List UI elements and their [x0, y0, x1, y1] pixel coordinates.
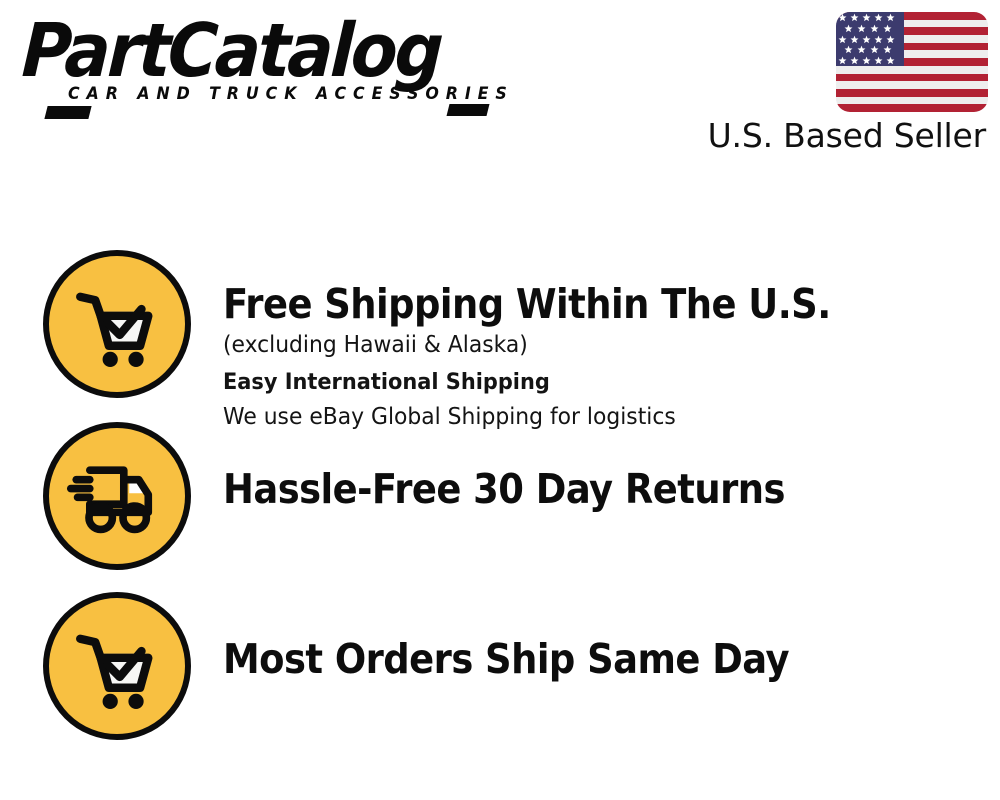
page-header: PartCatalog CAR AND TRUCK ACCESSORIES U.… — [0, 0, 1000, 175]
flag-star-icon — [886, 13, 895, 22]
flag-star-icon — [870, 24, 879, 33]
us-flag-icon — [836, 12, 988, 112]
flag-star-icon — [844, 24, 853, 33]
feature-heading: Hassle-Free 30 Day Returns — [223, 465, 907, 513]
feature-list: Free Shipping Within The U.S. (excluding… — [0, 175, 1000, 800]
flag-star-icon — [862, 13, 871, 22]
feature-row: Hassle-Free 30 Day Returns — [0, 422, 1000, 577]
flag-star-icon — [838, 35, 847, 44]
feature-row: Free Shipping Within The U.S. (excluding… — [0, 250, 1000, 425]
flag-stripe — [836, 104, 988, 112]
feature-row: Most Orders Ship Same Day — [0, 592, 1000, 747]
flag-star-icon — [838, 13, 847, 22]
flag-star-icon — [874, 35, 883, 44]
delivery-truck-icon — [43, 422, 191, 570]
flag-star-icon — [850, 56, 859, 65]
feature-text-block: Free Shipping Within The U.S. (excluding… — [223, 280, 983, 434]
flag-star-icon — [857, 24, 866, 33]
brand-wordmark: PartCatalog — [20, 14, 442, 88]
flag-star-icon — [862, 56, 871, 65]
feature-subline: (excluding Hawaii & Alaska) — [223, 328, 945, 362]
flag-stripe — [836, 97, 988, 105]
us-based-seller-label: U.S. Based Seller — [600, 116, 986, 156]
flag-star-icon — [844, 45, 853, 54]
feature-subline-bold: Easy International Shipping — [223, 366, 945, 400]
shopping-cart-check-icon — [43, 250, 191, 398]
brand-logo[interactable]: PartCatalog CAR AND TRUCK ACCESSORIES — [24, 20, 494, 115]
brand-tagline: CAR AND TRUCK ACCESSORIES — [68, 86, 514, 103]
flag-canton — [836, 12, 904, 66]
feature-heading: Free Shipping Within The U.S. — [223, 280, 907, 328]
feature-text-block: Most Orders Ship Same Day — [223, 635, 983, 683]
feature-text-block: Hassle-Free 30 Day Returns — [223, 465, 983, 513]
flag-stripe — [836, 81, 988, 89]
logo-swash-left — [44, 106, 91, 119]
shopping-cart-check-icon — [43, 592, 191, 740]
flag-star-icon — [870, 45, 879, 54]
flag-stripe — [836, 89, 988, 97]
flag-star-icon — [886, 56, 895, 65]
flag-star-icon — [883, 24, 892, 33]
feature-heading: Most Orders Ship Same Day — [223, 635, 907, 683]
flag-star-icon — [850, 13, 859, 22]
flag-star-icon — [874, 56, 883, 65]
logo-swash-right — [447, 104, 490, 116]
flag-star-icon — [862, 35, 871, 44]
flag-stripe — [836, 74, 988, 82]
flag-star-icon — [857, 45, 866, 54]
flag-star-icon — [850, 35, 859, 44]
flag-stripe — [836, 66, 988, 74]
flag-star-icon — [874, 13, 883, 22]
flag-star-icon — [886, 35, 895, 44]
flag-star-icon — [883, 45, 892, 54]
flag-star-icon — [838, 56, 847, 65]
